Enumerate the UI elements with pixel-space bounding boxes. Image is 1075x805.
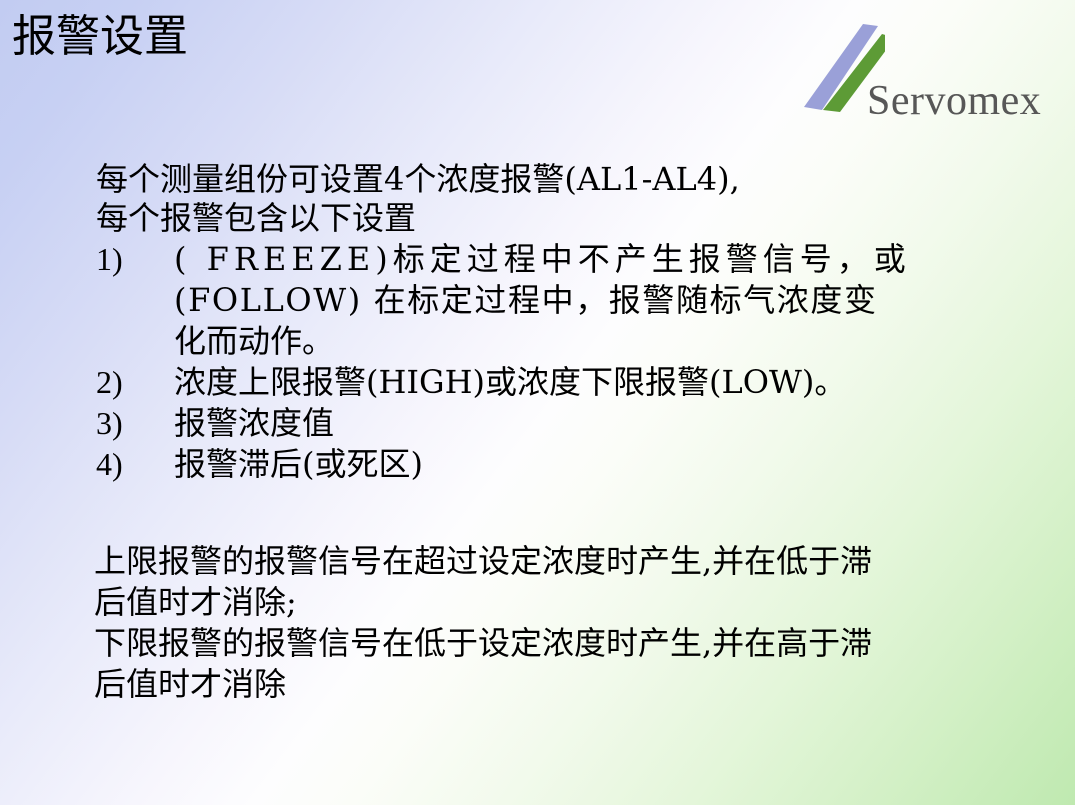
paragraph-high-alarm-line-1: 上限报警的报警信号在超过设定浓度时产生,并在低于滞 xyxy=(94,541,1059,582)
paragraph-low-alarm-line-2: 后值时才消除 xyxy=(94,664,1059,705)
slide-body: 每个测量组份可设置4个浓度报警(AL1-AL4), 每个报警包含以下设置 1) … xyxy=(96,160,1056,485)
paragraph-low-alarm-line-1: 下限报警的报警信号在低于设定浓度时产生,并在高于滞 xyxy=(94,623,1059,664)
list-item-2-line-1: 浓度上限报警(HIGH)或浓度下限报警(LOW)。 xyxy=(174,362,1056,403)
paragraph-high-alarm-line-2: 后值时才消除; xyxy=(94,582,1059,623)
list-item: 4) 报警滞后(或死区) xyxy=(96,444,1056,485)
lead-line-1: 每个测量组份可设置4个浓度报警(AL1-AL4), xyxy=(96,160,1056,199)
paragraph-low-alarm: 下限报警的报警信号在低于设定浓度时产生,并在高于滞 后值时才消除 xyxy=(94,623,1059,705)
list-marker-3: 3) xyxy=(96,403,156,444)
logo-wordmark: Servomex xyxy=(867,77,1041,125)
servomex-logo: Servomex xyxy=(795,22,1070,122)
list-marker-4: 4) xyxy=(96,444,156,485)
list-item-1-line-2: (FOLLOW) 在标定过程中，报警随标气浓度变 xyxy=(174,280,1056,321)
list-item: 2) 浓度上限报警(HIGH)或浓度下限报警(LOW)。 xyxy=(96,362,1056,403)
list-marker-2: 2) xyxy=(96,362,156,403)
list-item-1-line-3: 化而动作。 xyxy=(174,321,1056,362)
lead-line-2: 每个报警包含以下设置 xyxy=(96,199,1056,238)
list-item: 3) 报警浓度值 xyxy=(96,403,1056,444)
list-item: 1) ( FREEZE)标定过程中不产生报警信号，或 (FOLLOW) 在标定过… xyxy=(96,239,1056,362)
settings-list: 1) ( FREEZE)标定过程中不产生报警信号，或 (FOLLOW) 在标定过… xyxy=(96,239,1056,485)
explanation-paragraphs: 上限报警的报警信号在超过设定浓度时产生,并在低于滞 后值时才消除; 下限报警的报… xyxy=(94,541,1059,705)
page-title: 报警设置 xyxy=(12,8,188,66)
list-marker-1: 1) xyxy=(96,239,156,280)
list-item-3-line-1: 报警浓度值 xyxy=(174,403,1056,444)
list-item-1-line-1: ( FREEZE)标定过程中不产生报警信号，或 xyxy=(174,239,1056,280)
paragraph-high-alarm: 上限报警的报警信号在超过设定浓度时产生,并在低于滞 后值时才消除; xyxy=(94,541,1059,623)
slide-canvas: 报警设置 Servomex 每个测量组份可设置4个浓度报警(AL1-AL4), … xyxy=(0,0,1075,805)
list-item-4-line-1: 报警滞后(或死区) xyxy=(174,444,1056,485)
